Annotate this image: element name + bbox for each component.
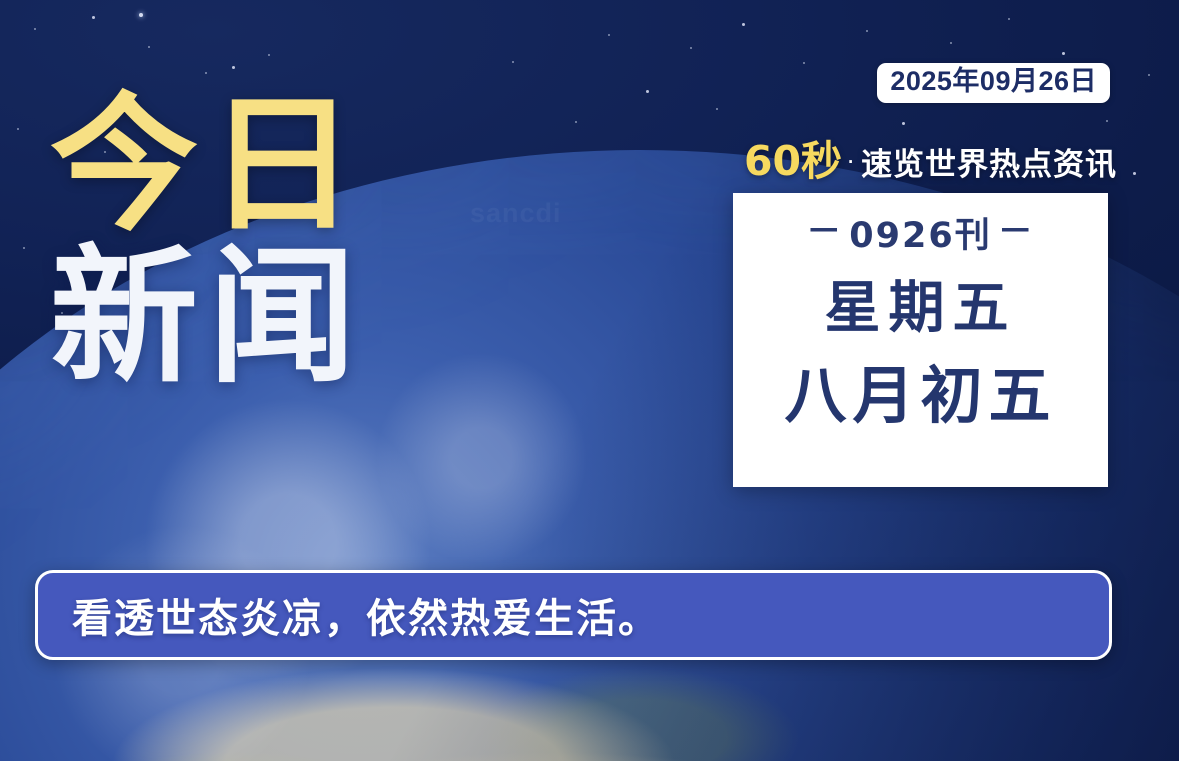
page-title: 今日 新闻 bbox=[50, 94, 366, 388]
news-poster: sancdi 2025年09月26日 今日 新闻 60秒·速览世界热点资讯 －0… bbox=[0, 0, 1179, 761]
tagline-separator: · bbox=[846, 145, 855, 175]
tagline-text: 速览世界热点资讯 bbox=[861, 147, 1117, 182]
issue-number: 0926刊 bbox=[849, 216, 991, 256]
date-badge: 2025年09月26日 bbox=[877, 63, 1110, 103]
quote-banner: 看透世态炎凉，依然热爱生活。 bbox=[35, 570, 1112, 660]
tagline: 60秒·速览世界热点资讯 bbox=[744, 141, 1117, 182]
tagline-seconds: 60秒 bbox=[744, 137, 842, 185]
lunar-date-label: 八月初五 bbox=[784, 366, 1056, 428]
title-line-jinri: 今日 bbox=[50, 94, 366, 236]
issue-dash-right: － bbox=[998, 203, 1035, 254]
issue-number-row: －0926刊－ bbox=[800, 207, 1040, 258]
weekday-label: 星期五 bbox=[825, 280, 1017, 336]
title-line-xinwen: 新闻 bbox=[50, 246, 366, 388]
quote-text: 看透世态炎凉，依然热爱生活。 bbox=[72, 586, 660, 644]
info-card: －0926刊－ 星期五 八月初五 bbox=[733, 193, 1108, 487]
watermark: sancdi bbox=[470, 198, 562, 229]
issue-dash-left: － bbox=[806, 203, 843, 254]
